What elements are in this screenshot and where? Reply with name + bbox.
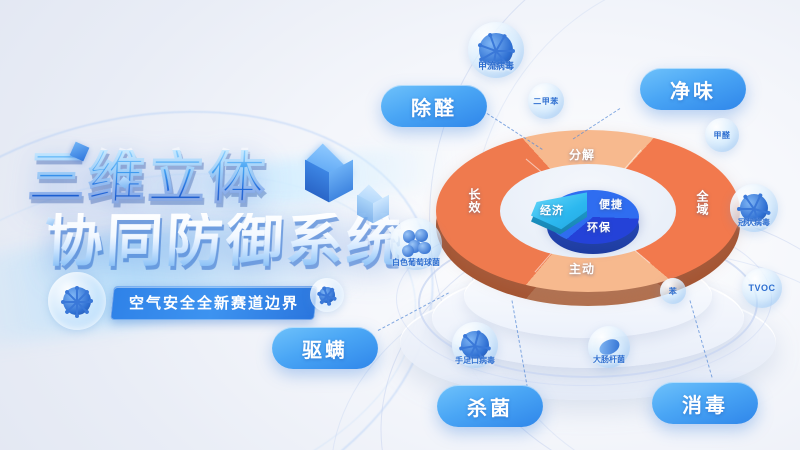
feature-pill-shajun[interactable]: 杀菌 <box>437 385 543 427</box>
poster-subtitle-banner: 空气安全全新赛道边界 <box>110 286 318 320</box>
feature-pill-chuquan-label: 除醛 <box>411 92 457 121</box>
ring-label-long-lasting: 长效 <box>466 188 483 214</box>
decorative-cube-large <box>300 146 358 212</box>
bubble-influenza-label: 甲流病毒 <box>478 59 514 72</box>
bubble-tvoc-label: TVOC <box>748 283 775 293</box>
pie-label-convenient: 便捷 <box>599 196 623 212</box>
bubble-coronavirus-label: 冠状病毒 <box>738 217 770 228</box>
poster-title-line-2: 协同防御系统 <box>45 213 400 270</box>
decorative-virus-icon-center <box>310 278 344 312</box>
cocci-icon <box>401 229 431 259</box>
bubble-benzene[interactable]: 苯 <box>660 278 686 304</box>
feature-pill-chuquan[interactable]: 除醛 <box>381 85 487 127</box>
feature-pill-shajun-label: 杀菌 <box>467 392 513 421</box>
feature-pill-quman[interactable]: 驱螨 <box>272 327 378 369</box>
feature-pill-quman-label: 驱螨 <box>302 334 348 363</box>
bubble-influenza[interactable]: 甲流病毒 <box>468 22 524 78</box>
bubble-coronavirus[interactable]: 冠状病毒 <box>730 184 778 232</box>
ring-label-decompose: 分解 <box>569 146 595 163</box>
bubble-xylene-label: 二甲苯 <box>533 96 559 107</box>
feature-pill-xiaodu[interactable]: 消毒 <box>652 382 758 424</box>
bubble-formaldehyde[interactable]: 甲醛 <box>705 118 739 152</box>
donut-chart: 分解 全域 主动 长效 经济 便捷 环保 <box>436 130 740 306</box>
bubble-benzene-label: 苯 <box>669 286 678 297</box>
bubble-ecoli[interactable]: 大肠杆菌 <box>588 326 630 368</box>
bubble-hfmd-label: 手足口病毒 <box>455 355 495 366</box>
poster-subtitle-text: 空气安全全新赛道边界 <box>129 292 299 313</box>
decorative-virus-icon-left <box>48 272 106 330</box>
bubble-staph[interactable]: 白色葡萄球菌 <box>390 218 442 270</box>
decorative-cube-medium <box>353 186 393 232</box>
pie-label-eco-friendly: 环保 <box>587 219 611 235</box>
ring-label-active: 主动 <box>569 260 595 277</box>
feature-pill-jingwei-label: 净味 <box>670 75 716 104</box>
bubble-ecoli-label: 大肠杆菌 <box>593 354 625 365</box>
ring-label-full-coverage: 全域 <box>694 190 711 216</box>
bubble-tvoc[interactable]: TVOC <box>742 268 782 308</box>
bubble-formaldehyde-label: 甲醛 <box>714 130 731 141</box>
bubble-hfmd[interactable]: 手足口病毒 <box>452 322 498 368</box>
bubble-xylene[interactable]: 二甲苯 <box>528 83 564 119</box>
feature-pill-xiaodu-label: 消毒 <box>682 389 728 418</box>
feature-pill-jingwei[interactable]: 净味 <box>640 68 746 110</box>
bubble-staph-label: 白色葡萄球菌 <box>392 257 440 268</box>
pie-label-economic: 经济 <box>540 202 564 218</box>
